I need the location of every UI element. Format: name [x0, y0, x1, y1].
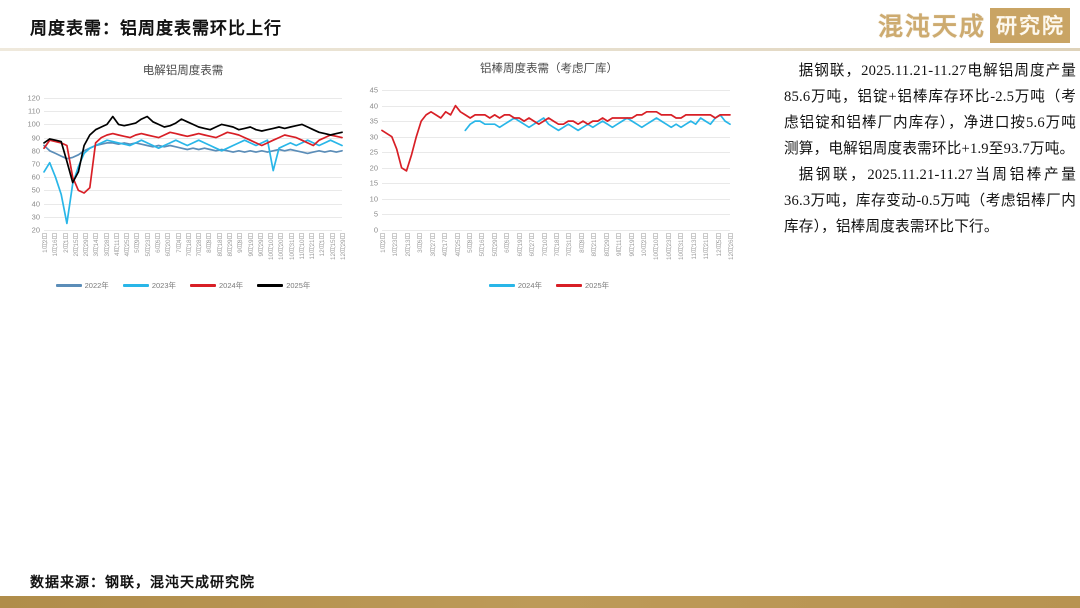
- x-axis-tick-label: 5月9日: [133, 233, 142, 253]
- x-axis-tick-label: 11月10日: [298, 233, 307, 260]
- x-axis-tick-label: 1月2日: [379, 233, 388, 253]
- plot-area: 12011010090807060504030201月2日1月16日2月1日2月…: [44, 98, 342, 230]
- x-axis-tick-label: 10月10日: [652, 233, 661, 260]
- series-line: [382, 106, 730, 171]
- y-axis-tick-label: 10: [370, 194, 378, 203]
- legend-color-swatch: [489, 284, 515, 287]
- legend-item[interactable]: 2025年: [556, 280, 609, 291]
- x-axis-tick-label: 11月21日: [308, 233, 317, 260]
- y-axis-tick-label: 25: [370, 148, 378, 157]
- x-axis-tick-label: 11月21日: [702, 233, 711, 260]
- y-axis-tick-label: 30: [32, 212, 40, 221]
- x-axis-tick-label: 10月31日: [677, 233, 686, 260]
- x-axis-tick-label: 7月31日: [565, 233, 574, 256]
- commentary-paragraph-1: 据钢联，2025.11.21-11.27电解铝周度产量85.6万吨，铝锭+铝棒库…: [784, 58, 1076, 162]
- x-axis-tick-label: 6月27日: [528, 233, 537, 256]
- gridline: [44, 230, 342, 231]
- x-axis-tick-label: 1月16日: [51, 233, 60, 256]
- x-axis-tick-label: 4月11日: [113, 233, 122, 256]
- legend-color-swatch: [123, 284, 149, 287]
- x-axis-tick-label: 5月8日: [466, 233, 475, 253]
- legend-item[interactable]: 2022年: [56, 280, 109, 291]
- x-axis-tick-label: 12月15日: [329, 233, 338, 260]
- y-axis-tick-label: 15: [370, 179, 378, 188]
- commentary-paragraph-2: 据钢联，2025.11.21-11.27当周铝棒产量36.3万吨，库存变动-0.…: [784, 162, 1076, 240]
- y-axis-tick-label: 30: [370, 132, 378, 141]
- x-axis-tick-label: 2月15日: [72, 233, 81, 256]
- y-axis-tick-label: 35: [370, 117, 378, 126]
- chart-aluminium-weekly-apparent-demand: 电解铝周度表需 12011010090807060504030201月2日1月1…: [18, 62, 348, 307]
- x-axis-tick-label: 7月28日: [195, 233, 204, 256]
- legend-color-swatch: [556, 284, 582, 287]
- legend-label: 2025年: [286, 280, 310, 291]
- chart-legend: 2024年2025年: [358, 280, 740, 291]
- x-axis-tick-label: 3月27日: [429, 233, 438, 256]
- x-axis-tick-label: 5月23日: [144, 233, 153, 256]
- x-axis-tick-label: 8月8日: [578, 233, 587, 253]
- x-axis-tick-label: 9月29日: [257, 233, 266, 256]
- data-source-note: 数据来源：钢联，混沌天成研究院: [30, 572, 255, 592]
- legend-label: 2022年: [85, 280, 109, 291]
- x-axis-tick-label: 7月4日: [175, 233, 184, 253]
- header-divider: [0, 48, 1080, 51]
- series-line: [44, 132, 342, 193]
- x-axis-tick-label: 2月29日: [82, 233, 91, 256]
- y-axis-tick-label: 100: [27, 120, 40, 129]
- series-line: [44, 140, 342, 223]
- x-axis-tick-label: 4月25日: [454, 233, 463, 256]
- y-axis-tick-label: 45: [370, 86, 378, 95]
- page-title: 周度表需：铝周度表需环比上行: [30, 14, 282, 39]
- x-axis-tick-label: 8月21日: [590, 233, 599, 256]
- x-axis-tick-label: 12月26日: [727, 233, 736, 260]
- legend-color-swatch: [56, 284, 82, 287]
- x-axis-tick-label: 2月13日: [404, 233, 413, 256]
- x-axis-tick-label: 6月6日: [503, 233, 512, 253]
- legend-color-swatch: [257, 284, 283, 287]
- y-axis-tick-label: 110: [28, 107, 40, 116]
- x-axis-tick-label: 8月8日: [205, 233, 214, 253]
- y-axis-tick-label: 40: [32, 199, 40, 208]
- x-axis-tick-label: 1月2日: [41, 233, 50, 253]
- chart-aluminium-rod-weekly-apparent-demand: 铝棒周度表需（考虑厂库） 4540353025201510501月2日1月23日…: [358, 60, 740, 305]
- logo-institute-badge: 研究院: [990, 8, 1070, 43]
- x-axis-tick-label: 7月18日: [553, 233, 562, 256]
- plot-area: 4540353025201510501月2日1月23日2月13日3月6日3月27…: [382, 90, 730, 230]
- y-axis-tick-label: 80: [32, 146, 40, 155]
- y-axis-tick-label: 0: [374, 226, 378, 235]
- y-axis-tick-label: 60: [32, 173, 40, 182]
- commentary-panel: 据钢联，2025.11.21-11.27电解铝周度产量85.6万吨，铝锭+铝棒库…: [784, 58, 1076, 240]
- y-axis-tick-label: 70: [32, 160, 40, 169]
- x-axis-tick-label: 3月28日: [103, 233, 112, 256]
- x-axis-tick-label: 6月20日: [164, 233, 173, 256]
- y-axis-tick-label: 5: [374, 210, 378, 219]
- y-axis-tick-label: 40: [370, 101, 378, 110]
- chart-legend: 2022年2023年2024年2025年: [18, 280, 348, 291]
- x-axis-tick-label: 2月1日: [62, 233, 71, 253]
- x-axis-tick-label: 8月29日: [226, 233, 235, 256]
- x-axis-tick-label: 11月13日: [690, 233, 699, 260]
- x-axis-tick-label: 10月10日: [267, 233, 276, 260]
- logo-wordmark: 混沌天成: [878, 7, 986, 43]
- y-axis-tick-label: 120: [27, 94, 40, 103]
- x-axis-tick-label: 9月19日: [247, 233, 256, 256]
- legend-label: 2025年: [585, 280, 609, 291]
- x-axis-tick-label: 9月8日: [236, 233, 245, 253]
- legend-item[interactable]: 2023年: [123, 280, 176, 291]
- x-axis-tick-label: 7月18日: [185, 233, 194, 256]
- x-axis-tick-label: 9月11日: [615, 233, 624, 256]
- footer-accent-bar: [0, 596, 1080, 608]
- legend-label: 2024年: [518, 280, 542, 291]
- x-axis-tick-label: 4月17日: [441, 233, 450, 256]
- x-axis-tick-label: 12月5日: [715, 233, 724, 256]
- y-axis-tick-label: 90: [32, 133, 40, 142]
- legend-label: 2023年: [152, 280, 176, 291]
- x-axis-tick-label: 4月25日: [123, 233, 132, 256]
- x-axis-tick-label: 1月23日: [391, 233, 400, 256]
- gridline: [382, 230, 730, 231]
- x-axis-tick-label: 7月10日: [541, 233, 550, 256]
- x-axis-tick-label: 3月14日: [92, 233, 101, 256]
- x-axis-tick-label: 12月1日: [318, 233, 327, 256]
- y-axis-tick-label: 20: [370, 163, 378, 172]
- y-axis-tick-label: 20: [32, 226, 40, 235]
- company-logo: 混沌天成 研究院: [878, 8, 1070, 42]
- x-axis-tick-label: 6月6日: [154, 233, 163, 253]
- x-axis-tick-label: 12月29日: [339, 233, 348, 260]
- legend-label: 2024年: [219, 280, 243, 291]
- x-axis-tick-label: 10月23日: [665, 233, 674, 260]
- chart-title: 电解铝周度表需: [18, 62, 348, 78]
- x-axis-tick-label: 6月19日: [516, 233, 525, 256]
- x-axis-tick-label: 3月6日: [416, 233, 425, 253]
- x-axis-tick-label: 5月29日: [491, 233, 500, 256]
- legend-color-swatch: [190, 284, 216, 287]
- series-line: [465, 115, 730, 130]
- x-axis-tick-label: 10月2日: [640, 233, 649, 256]
- x-axis-tick-label: 5月16日: [478, 233, 487, 256]
- legend-item[interactable]: 2024年: [190, 280, 243, 291]
- legend-item[interactable]: 2024年: [489, 280, 542, 291]
- x-axis-tick-label: 8月18日: [216, 233, 225, 256]
- y-axis-tick-label: 50: [32, 186, 40, 195]
- x-axis-tick-label: 10月31日: [288, 233, 297, 260]
- series-canvas: [44, 98, 342, 230]
- chart-title: 铝棒周度表需（考虑厂库）: [358, 60, 740, 76]
- x-axis-tick-label: 9月19日: [628, 233, 637, 256]
- series-canvas: [382, 90, 730, 230]
- x-axis-tick-label: 8月29日: [603, 233, 612, 256]
- legend-item[interactable]: 2025年: [257, 280, 310, 291]
- x-axis-tick-label: 10月20日: [277, 233, 286, 260]
